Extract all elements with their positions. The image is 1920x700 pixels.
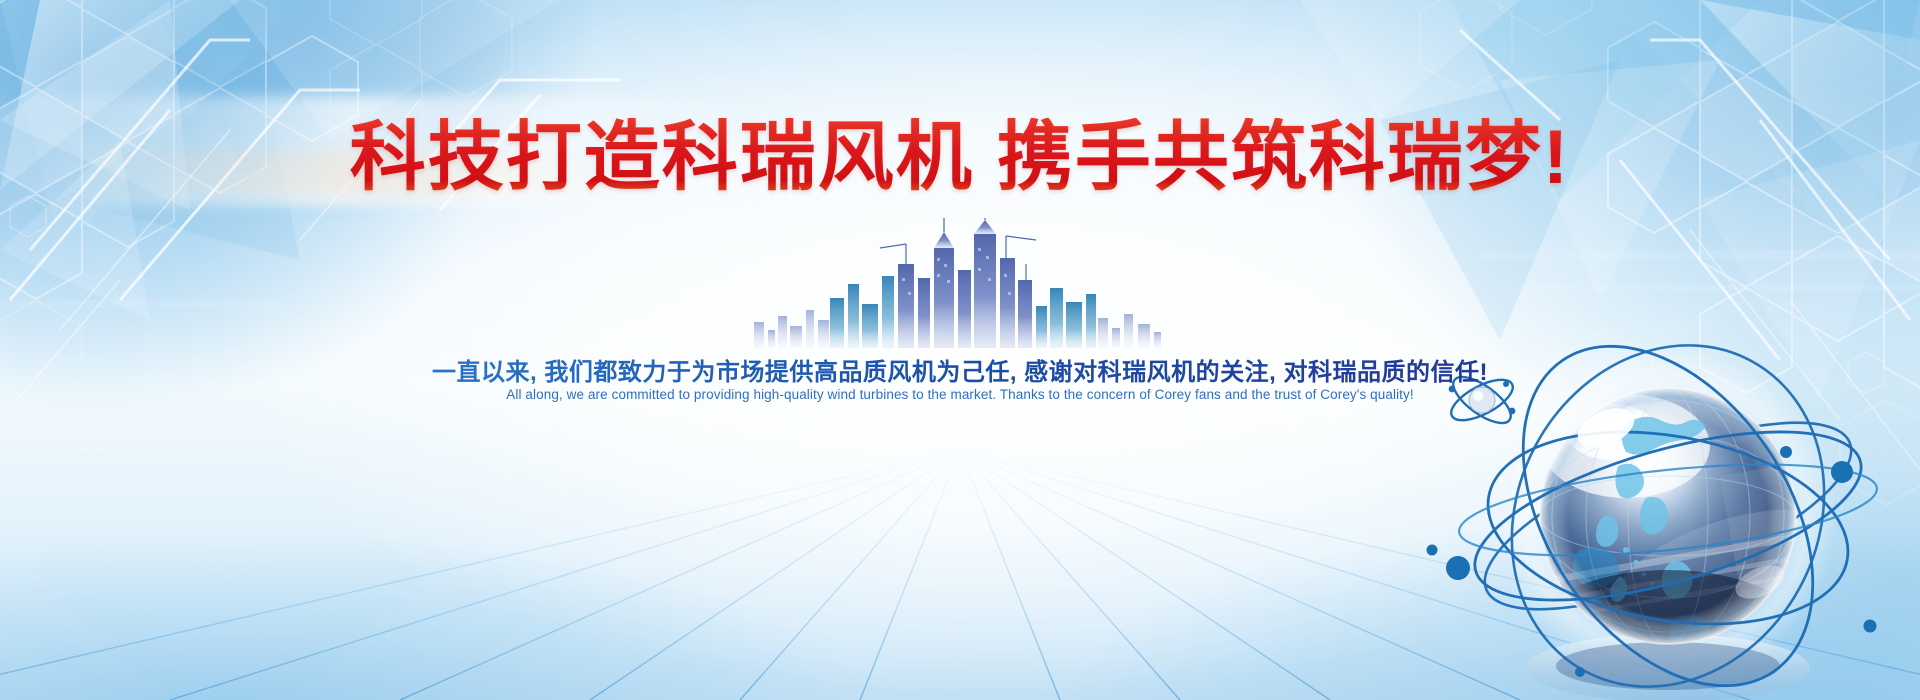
hero-banner: 科技打造科瑞风机 携手共筑科瑞梦! 一直以来, 我们都致力于为市场提供高品质风机…	[0, 0, 1920, 700]
page-title: 科技打造科瑞风机 携手共筑科瑞梦!	[0, 118, 1920, 198]
banner-text-block: 科技打造科瑞风机 携手共筑科瑞梦! 一直以来, 我们都致力于为市场提供高品质风机…	[0, 0, 1920, 700]
subtitle-chinese: 一直以来, 我们都致力于为市场提供高品质风机为己任, 感谢对科瑞风机的关注, 对…	[0, 352, 1920, 387]
subtitle-english: All along, we are committed to providing…	[0, 387, 1920, 402]
